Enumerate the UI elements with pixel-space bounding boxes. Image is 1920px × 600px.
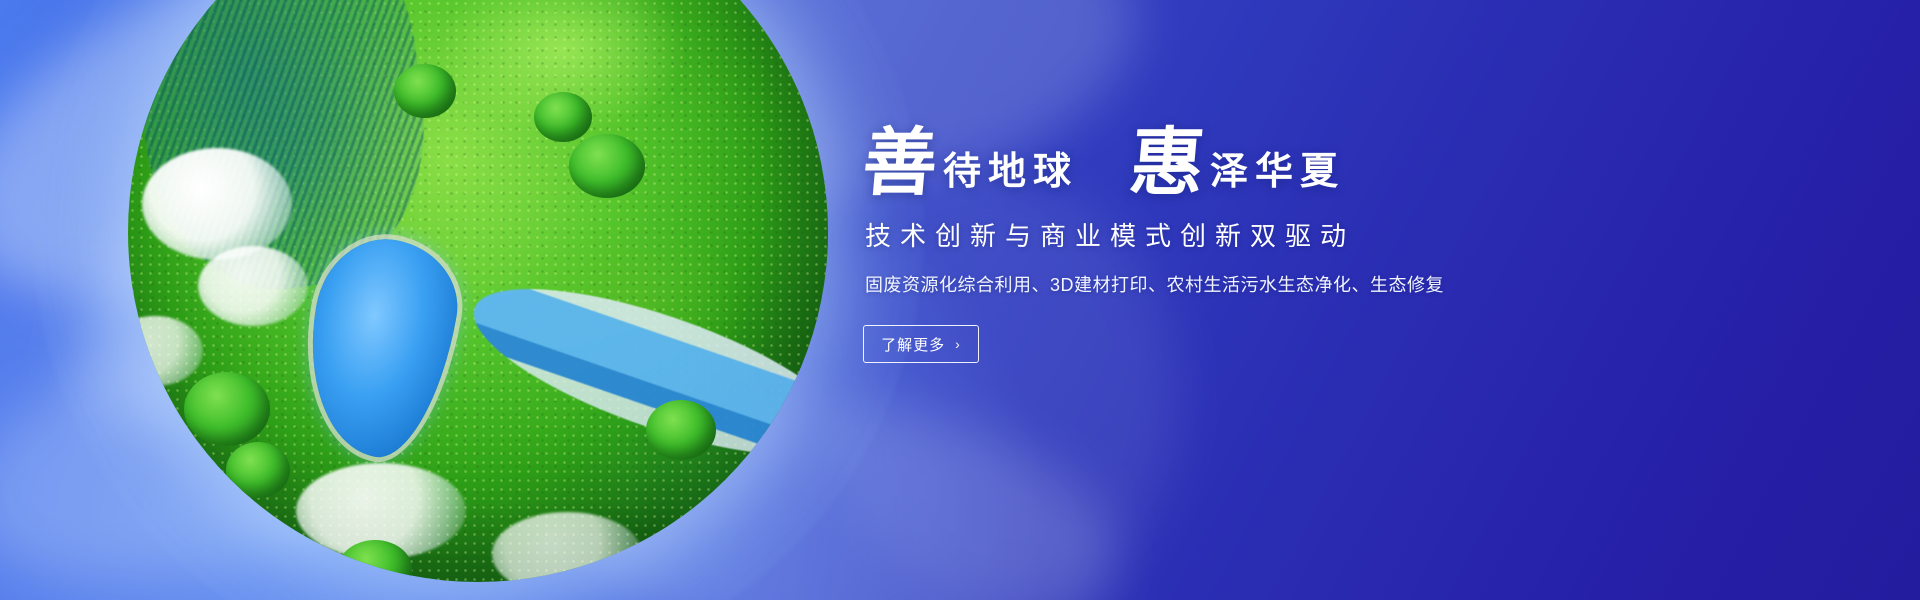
tree [646, 400, 716, 460]
tree [569, 134, 645, 198]
tree [394, 64, 456, 118]
hero-subtitle: 技术创新与商业模式创新双驱动 [865, 216, 1623, 253]
chevron-right-icon: › [955, 336, 961, 352]
page-title: 善 待地球 惠 泽华夏 [863, 126, 1623, 200]
headline-rest-2: 泽华夏 [1210, 152, 1345, 200]
globe-sphere [128, 0, 828, 582]
tree [226, 442, 290, 498]
tiny-planet-globe [128, 0, 828, 582]
hero-copy: 善 待地球 惠 泽华夏 技术创新与商业模式创新双驱动 固废资源化综合利用、3D建… [863, 126, 1623, 363]
headline-lead-1: 善 [860, 126, 946, 200]
hero-description: 固废资源化综合利用、3D建材打印、农村生活污水生态净化、生态修复 [865, 271, 1623, 297]
learn-more-label: 了解更多 [881, 334, 945, 355]
cloud [198, 246, 308, 326]
headline-rest-1: 待地球 [943, 152, 1078, 200]
tree [534, 92, 592, 142]
hero-banner: 善 待地球 惠 泽华夏 技术创新与商业模式创新双驱动 固废资源化综合利用、3D建… [0, 0, 1920, 600]
learn-more-button[interactable]: 了解更多 › [863, 325, 979, 363]
tree [184, 372, 270, 446]
headline-lead-2: 惠 [1127, 126, 1213, 200]
cloud [142, 148, 292, 260]
